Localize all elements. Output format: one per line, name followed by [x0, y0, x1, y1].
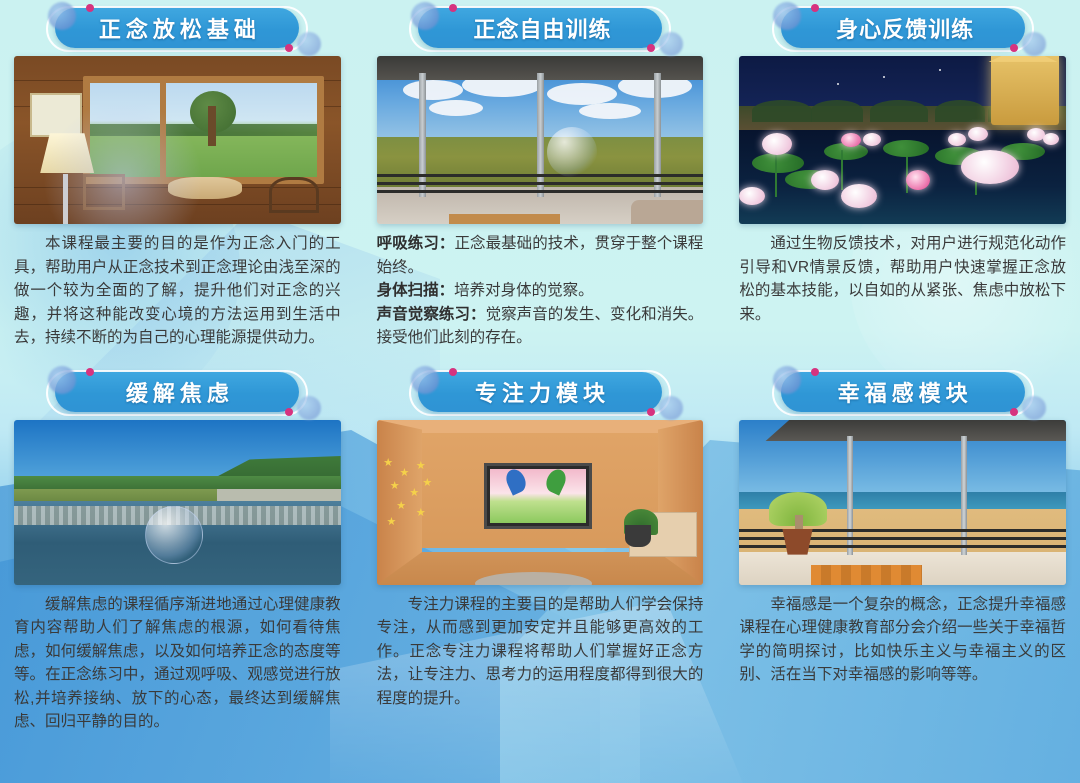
badge-pill[interactable]: 正念自由训练 — [418, 8, 662, 48]
badge-blob-dot-right — [297, 32, 321, 56]
paragraph: 专注力课程的主要目的是帮助人们学会保持专注，从而感到更加安定并且能够更高效的工作… — [377, 593, 704, 711]
badge-blob-dot — [773, 366, 801, 394]
card-title-text: 缓解焦虑 — [121, 376, 234, 408]
image-glass-terrace-grassland-vr-scene — [377, 56, 704, 224]
card-body-text: 幸福感是一个复杂的概念，正念提升幸福感课程在心理健康教育部分会介绍一些关于幸福哲… — [739, 593, 1066, 687]
image-wooden-room-screen-vr-scene: ★ ★ ★ ★ ★ ★ ★ ★ ★ — [377, 420, 704, 585]
card-body-text: 呼吸练习：正念最基础的技术，贯穿于整个课程始终。 身体扫描：培养对身体的觉察。 … — [377, 232, 704, 350]
badge-pill[interactable]: 幸福感模块 — [781, 372, 1025, 412]
card-title-badge[interactable]: 身心反馈训练 — [739, 0, 1066, 56]
paragraph: 通过生物反馈技术，对用户进行规范化动作引导和VR情景反馈，帮助用户快速掌握正念放… — [739, 232, 1066, 326]
card-grid-row-2: 缓解焦虑 缓解焦虑的课程循序渐进地通过心理健康教育内容帮助人们了解焦虑的根源，如… — [0, 364, 1080, 734]
card-title-text: 正念放松基础 — [94, 12, 261, 44]
card-body-text: 本课程最主要的目的是作为正念入门的工具，帮助用户从正念技术到正念理论由浅至深的做… — [14, 232, 341, 350]
badge-pill[interactable]: 缓解焦虑 — [55, 372, 299, 412]
card-grid: 正念放松基础 — [0, 0, 1080, 350]
paragraph: 声音觉察练习：觉察声音的发生、变化和消失。接受他们此刻的存在。 — [377, 303, 704, 350]
badge-blob-dot — [48, 366, 76, 394]
paragraph-label: 身体扫描： — [377, 282, 455, 299]
card-title-badge[interactable]: 幸福感模块 — [739, 364, 1066, 420]
paragraph-text: 培养对身体的觉察。 — [454, 282, 594, 299]
badge-pink-dot-right — [1010, 408, 1018, 416]
card-title-badge[interactable]: 专注力模块 — [377, 364, 704, 420]
image-beach-terrace-palm-vr-scene — [739, 420, 1066, 585]
badge-pill[interactable]: 专注力模块 — [418, 372, 662, 412]
badge-pink-dot-right — [1010, 44, 1018, 52]
badge-pink-dot-right — [285, 408, 293, 416]
badge-pill[interactable]: 身心反馈训练 — [781, 8, 1025, 48]
badge-pink-dot — [449, 4, 457, 12]
card-title-text: 专注力模块 — [470, 376, 610, 408]
badge-blob-dot — [48, 2, 76, 30]
badge-pink-dot — [449, 368, 457, 376]
card-mindfulness-free-training: 正念自由训练 — [363, 0, 718, 350]
paragraph: 本课程最主要的目的是作为正念入门的工具，帮助用户从正念技术到正念理论由浅至深的做… — [14, 232, 341, 350]
card-mind-body-biofeedback-training: 身心反馈训练 — [725, 0, 1080, 350]
card-title-text: 身心反馈训练 — [831, 12, 974, 44]
paragraph-label: 声音觉察练习： — [377, 306, 486, 323]
badge-blob-dot-right — [659, 396, 683, 420]
badge-blob-dot-right — [1022, 396, 1046, 420]
image-night-lotus-pond-pavilion-vr-scene — [739, 56, 1066, 224]
badge-blob-dot-right — [1022, 32, 1046, 56]
paragraph: 呼吸练习：正念最基础的技术，贯穿于整个课程始终。 — [377, 232, 704, 279]
card-title-badge[interactable]: 正念自由训练 — [377, 0, 704, 56]
card-mindfulness-relaxation-basics: 正念放松基础 — [0, 0, 355, 350]
badge-blob-dot — [411, 366, 439, 394]
paragraph: 身体扫描：培养对身体的觉察。 — [377, 279, 704, 303]
badge-pink-dot — [86, 4, 94, 12]
badge-pill[interactable]: 正念放松基础 — [55, 8, 299, 48]
card-body-text: 专注力课程的主要目的是帮助人们学会保持专注，从而感到更加安定并且能够更高效的工作… — [377, 593, 704, 711]
badge-blob-dot-right — [297, 396, 321, 420]
badge-pink-dot-right — [285, 44, 293, 52]
paragraph: 幸福感是一个复杂的概念，正念提升幸福感课程在心理健康教育部分会介绍一些关于幸福哲… — [739, 593, 1066, 687]
card-anxiety-relief: 缓解焦虑 缓解焦虑的课程循序渐进地通过心理健康教育内容帮助人们了解焦虑的根源，如… — [0, 364, 355, 734]
paragraph-label: 呼吸练习： — [377, 235, 455, 252]
poster-root: 正念放松基础 — [0, 0, 1080, 783]
image-river-hillside-nature-vr-scene — [14, 420, 341, 585]
badge-blob-dot — [411, 2, 439, 30]
card-body-text: 通过生物反馈技术，对用户进行规范化动作引导和VR情景反馈，帮助用户快速掌握正念放… — [739, 232, 1066, 326]
paragraph: 缓解焦虑的课程循序渐进地通过心理健康教育内容帮助人们了解焦虑的根源，如何看待焦虑… — [14, 593, 341, 734]
image-cabin-window-meadow-vr-scene — [14, 56, 341, 224]
badge-pink-dot — [86, 368, 94, 376]
card-title-badge[interactable]: 正念放松基础 — [14, 0, 341, 56]
card-focus-module: 专注力模块 ★ ★ ★ ★ ★ ★ ★ ★ ★ — [363, 364, 718, 734]
card-body-text: 缓解焦虑的课程循序渐进地通过心理健康教育内容帮助人们了解焦虑的根源，如何看待焦虑… — [14, 593, 341, 734]
card-title-text: 幸福感模块 — [833, 376, 973, 408]
card-title-text: 正念自由训练 — [468, 12, 611, 44]
card-wellbeing-module: 幸福感模块 幸福感是一个复杂的概念，正念提升幸福感课程 — [725, 364, 1080, 734]
card-title-badge[interactable]: 缓解焦虑 — [14, 364, 341, 420]
badge-blob-dot-right — [659, 32, 683, 56]
